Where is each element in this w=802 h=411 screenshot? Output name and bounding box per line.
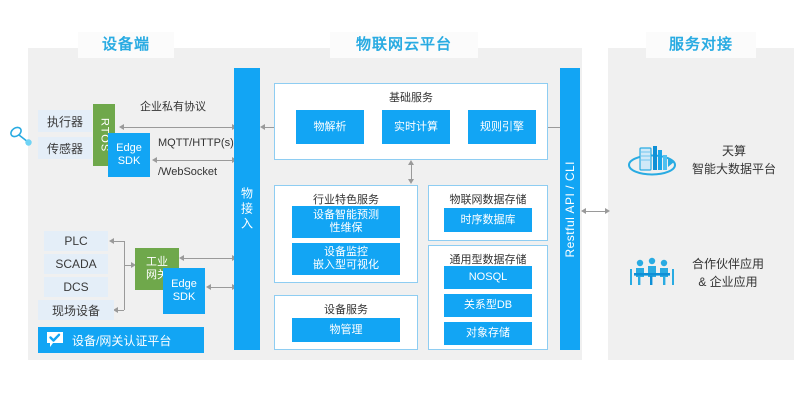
chip-sensor[interactable]: 传感器 (38, 137, 92, 159)
chip-plc-label: PLC (64, 234, 87, 248)
service-item-partners-line2: & 企业应用 (692, 273, 764, 291)
box-object-storage[interactable]: 对象存储 (444, 322, 532, 345)
box-nosql[interactable]: NOSQL (444, 266, 532, 289)
bar-thing-ingest-label: 物接入 (239, 187, 256, 232)
arrow-mqtt-line (155, 160, 234, 161)
service-item-partners[interactable]: 合作伙伴应用 & 企业应用 (626, 248, 796, 298)
partners-meeting-icon (626, 253, 678, 293)
box-edge-sdk-bottom-line2: SDK (173, 291, 196, 304)
arrow-api-service-r (605, 208, 610, 214)
arrow-base-down-up (408, 160, 414, 165)
arrow-gateway-head-left (179, 255, 184, 261)
chip-dcs-label: DCS (63, 280, 88, 294)
bracket-vertical (124, 241, 125, 310)
box-device-monitor-visual-line2: 嵌入型可视化 (313, 259, 379, 272)
chip-scada[interactable]: SCADA (44, 254, 108, 274)
box-edge-sdk-top-line2: SDK (118, 155, 141, 168)
service-item-partners-line1: 合作伙伴应用 (692, 255, 764, 273)
group-general-storage-title: 通用型数据存储 (429, 251, 547, 267)
chip-dcs[interactable]: DCS (44, 277, 108, 297)
service-item-bigdata-line2: 智能大数据平台 (692, 160, 776, 178)
bar-restful-api-cli-label: Restful API / CLI (563, 161, 577, 258)
box-device-monitor-visual[interactable]: 设备监控 嵌入型可视化 (292, 243, 400, 275)
box-predictive-maintenance[interactable]: 设备智能预测 性维保 (292, 206, 400, 238)
box-thing-management[interactable]: 物管理 (292, 318, 400, 342)
chip-field-device[interactable]: 现场设备 (38, 300, 114, 320)
chip-sensor-label: 传感器 (47, 140, 83, 157)
group-industry-services-title: 行业特色服务 (275, 191, 417, 207)
chip-scada-label: SCADA (55, 257, 96, 271)
service-item-bigdata[interactable]: 天算 智能大数据平台 (626, 135, 796, 185)
chip-actuator-label: 执行器 (47, 113, 83, 130)
chip-actuator[interactable]: 执行器 (38, 110, 92, 132)
box-thing-management-label: 物管理 (330, 324, 363, 337)
auth-platform-bar[interactable]: 设备/网关认证平台 (38, 327, 204, 353)
box-relational-db[interactable]: 关系型DB (444, 294, 532, 317)
box-timeseries-db[interactable]: 时序数据库 (444, 208, 532, 232)
arrow-private-protocol-head-left (119, 124, 124, 130)
bigdata-cylinder-icon (626, 140, 678, 180)
arrow-base-down-dn (408, 179, 414, 184)
section-title-device: 设备端 (78, 32, 174, 58)
arrow-gateway-line (182, 258, 234, 259)
box-rule-engine[interactable]: 规则引擎 (468, 110, 536, 144)
box-edge-sdk-top-line1: Edge (116, 142, 142, 155)
arrow-mqtt-head-left (152, 157, 157, 163)
arrow-private-protocol-line (122, 127, 234, 128)
arrow-api-service-l (581, 208, 586, 214)
auth-platform-label: 设备/网关认证平台 (72, 332, 171, 349)
section-title-service: 服务对接 (646, 32, 756, 58)
group-base-services-title: 基础服务 (275, 89, 547, 105)
box-realtime-compute[interactable]: 实时计算 (382, 110, 450, 144)
label-websocket: /WebSocket (158, 166, 217, 178)
check-bubble-icon (46, 331, 64, 349)
panel-service-docking (608, 48, 794, 360)
arrow-ingest-base-l (260, 124, 265, 130)
box-edge-sdk-bottom-line1: Edge (171, 278, 197, 291)
sensor-pin-icon (8, 123, 34, 149)
bar-thing-ingest[interactable]: 物接入 (234, 68, 260, 350)
chip-plc[interactable]: PLC (44, 231, 108, 251)
chip-field-device-label: 现场设备 (52, 302, 100, 319)
arrow-edgesdk-bottom-line (209, 287, 234, 288)
box-edge-sdk-bottom[interactable]: Edge SDK (163, 268, 205, 314)
box-edge-sdk-top[interactable]: Edge SDK (108, 133, 150, 177)
section-title-platform: 物联网云平台 (330, 32, 478, 58)
box-thing-parse[interactable]: 物解析 (296, 110, 364, 144)
box-timeseries-db-label: 时序数据库 (461, 214, 516, 227)
label-mqtt-http: MQTT/HTTP(s) (158, 137, 234, 149)
box-rule-engine-label: 规则引擎 (480, 121, 524, 134)
box-device-monitor-visual-line1: 设备监控 (324, 246, 368, 259)
box-object-storage-label: 对象存储 (466, 327, 510, 340)
box-thing-parse-label: 物解析 (314, 121, 347, 134)
label-private-protocol: 企业私有协议 (140, 98, 206, 114)
group-iot-storage-title: 物联网数据存储 (429, 191, 547, 207)
box-relational-db-label: 关系型DB (464, 299, 512, 312)
service-item-bigdata-line1: 天算 (692, 142, 776, 160)
bar-restful-api-cli[interactable]: Restful API / CLI (560, 68, 580, 350)
box-predictive-maintenance-line1: 设备智能预测 (313, 209, 379, 222)
box-realtime-compute-label: 实时计算 (394, 121, 438, 134)
box-nosql-label: NOSQL (469, 271, 508, 284)
arrow-edgesdk-bottom-head-left (206, 284, 211, 290)
group-device-services-title: 设备服务 (275, 301, 417, 317)
box-predictive-maintenance-line2: 性维保 (330, 222, 363, 235)
bracket-top-arrow (109, 238, 114, 244)
